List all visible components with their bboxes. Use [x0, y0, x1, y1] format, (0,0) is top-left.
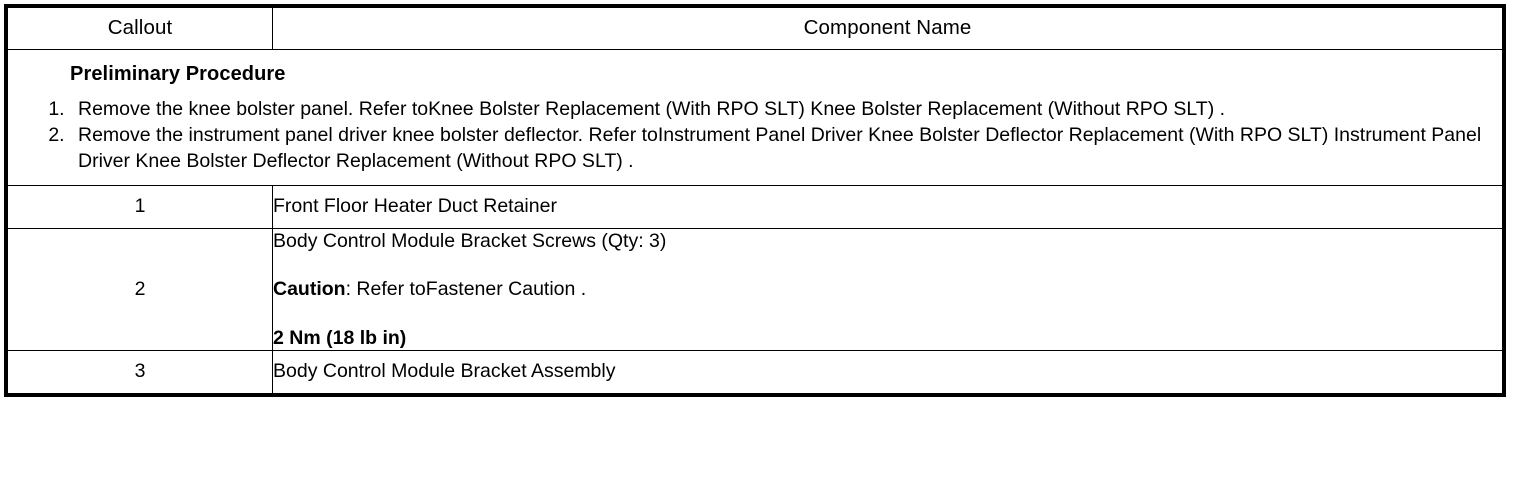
table-row: 2 Body Control Module Bracket Screws (Qt…	[8, 228, 1503, 350]
preliminary-procedure-list: Remove the knee bolster panel. Refer toK…	[18, 97, 1492, 175]
callout-number-1: 1	[8, 185, 273, 228]
column-header-callout: Callout	[8, 8, 273, 50]
component-name-2-title: Body Control Module Bracket Screws (Qty:…	[273, 229, 1502, 253]
column-header-component-name: Component Name	[273, 8, 1503, 50]
preliminary-procedure-row: Preliminary Procedure Remove the knee bo…	[8, 50, 1503, 186]
table-row: 3 Body Control Module Bracket Assembly	[8, 350, 1503, 393]
table-header: Callout Component Name	[8, 8, 1503, 50]
component-name-2: Body Control Module Bracket Screws (Qty:…	[273, 228, 1503, 350]
component-2-torque-spec: 2 Nm (18 lb in)	[273, 326, 1502, 350]
caution-text: : Refer toFastener Caution .	[346, 278, 587, 300]
callout-number-2: 2	[8, 228, 273, 350]
table-row: 1 Front Floor Heater Duct Retainer	[8, 185, 1503, 228]
table-body: Preliminary Procedure Remove the knee bo…	[8, 50, 1503, 394]
table-header-row: Callout Component Name	[8, 8, 1503, 50]
callout-number-3: 3	[8, 350, 273, 393]
preliminary-procedure-cell: Preliminary Procedure Remove the knee bo…	[8, 50, 1503, 186]
parts-table-container: Callout Component Name Preliminary Proce…	[4, 4, 1506, 397]
component-name-1: Front Floor Heater Duct Retainer	[273, 185, 1503, 228]
parts-table: Callout Component Name Preliminary Proce…	[7, 7, 1503, 394]
preliminary-procedure-content: Preliminary Procedure Remove the knee bo…	[8, 50, 1502, 185]
preliminary-procedure-heading: Preliminary Procedure	[18, 62, 1492, 88]
component-name-3: Body Control Module Bracket Assembly	[273, 350, 1503, 393]
component-2-caution: Caution: Refer toFastener Caution .	[273, 277, 1502, 301]
procedure-step-1: Remove the knee bolster panel. Refer toK…	[70, 97, 1492, 123]
caution-label: Caution	[273, 278, 346, 300]
procedure-step-2: Remove the instrument panel driver knee …	[70, 123, 1492, 174]
